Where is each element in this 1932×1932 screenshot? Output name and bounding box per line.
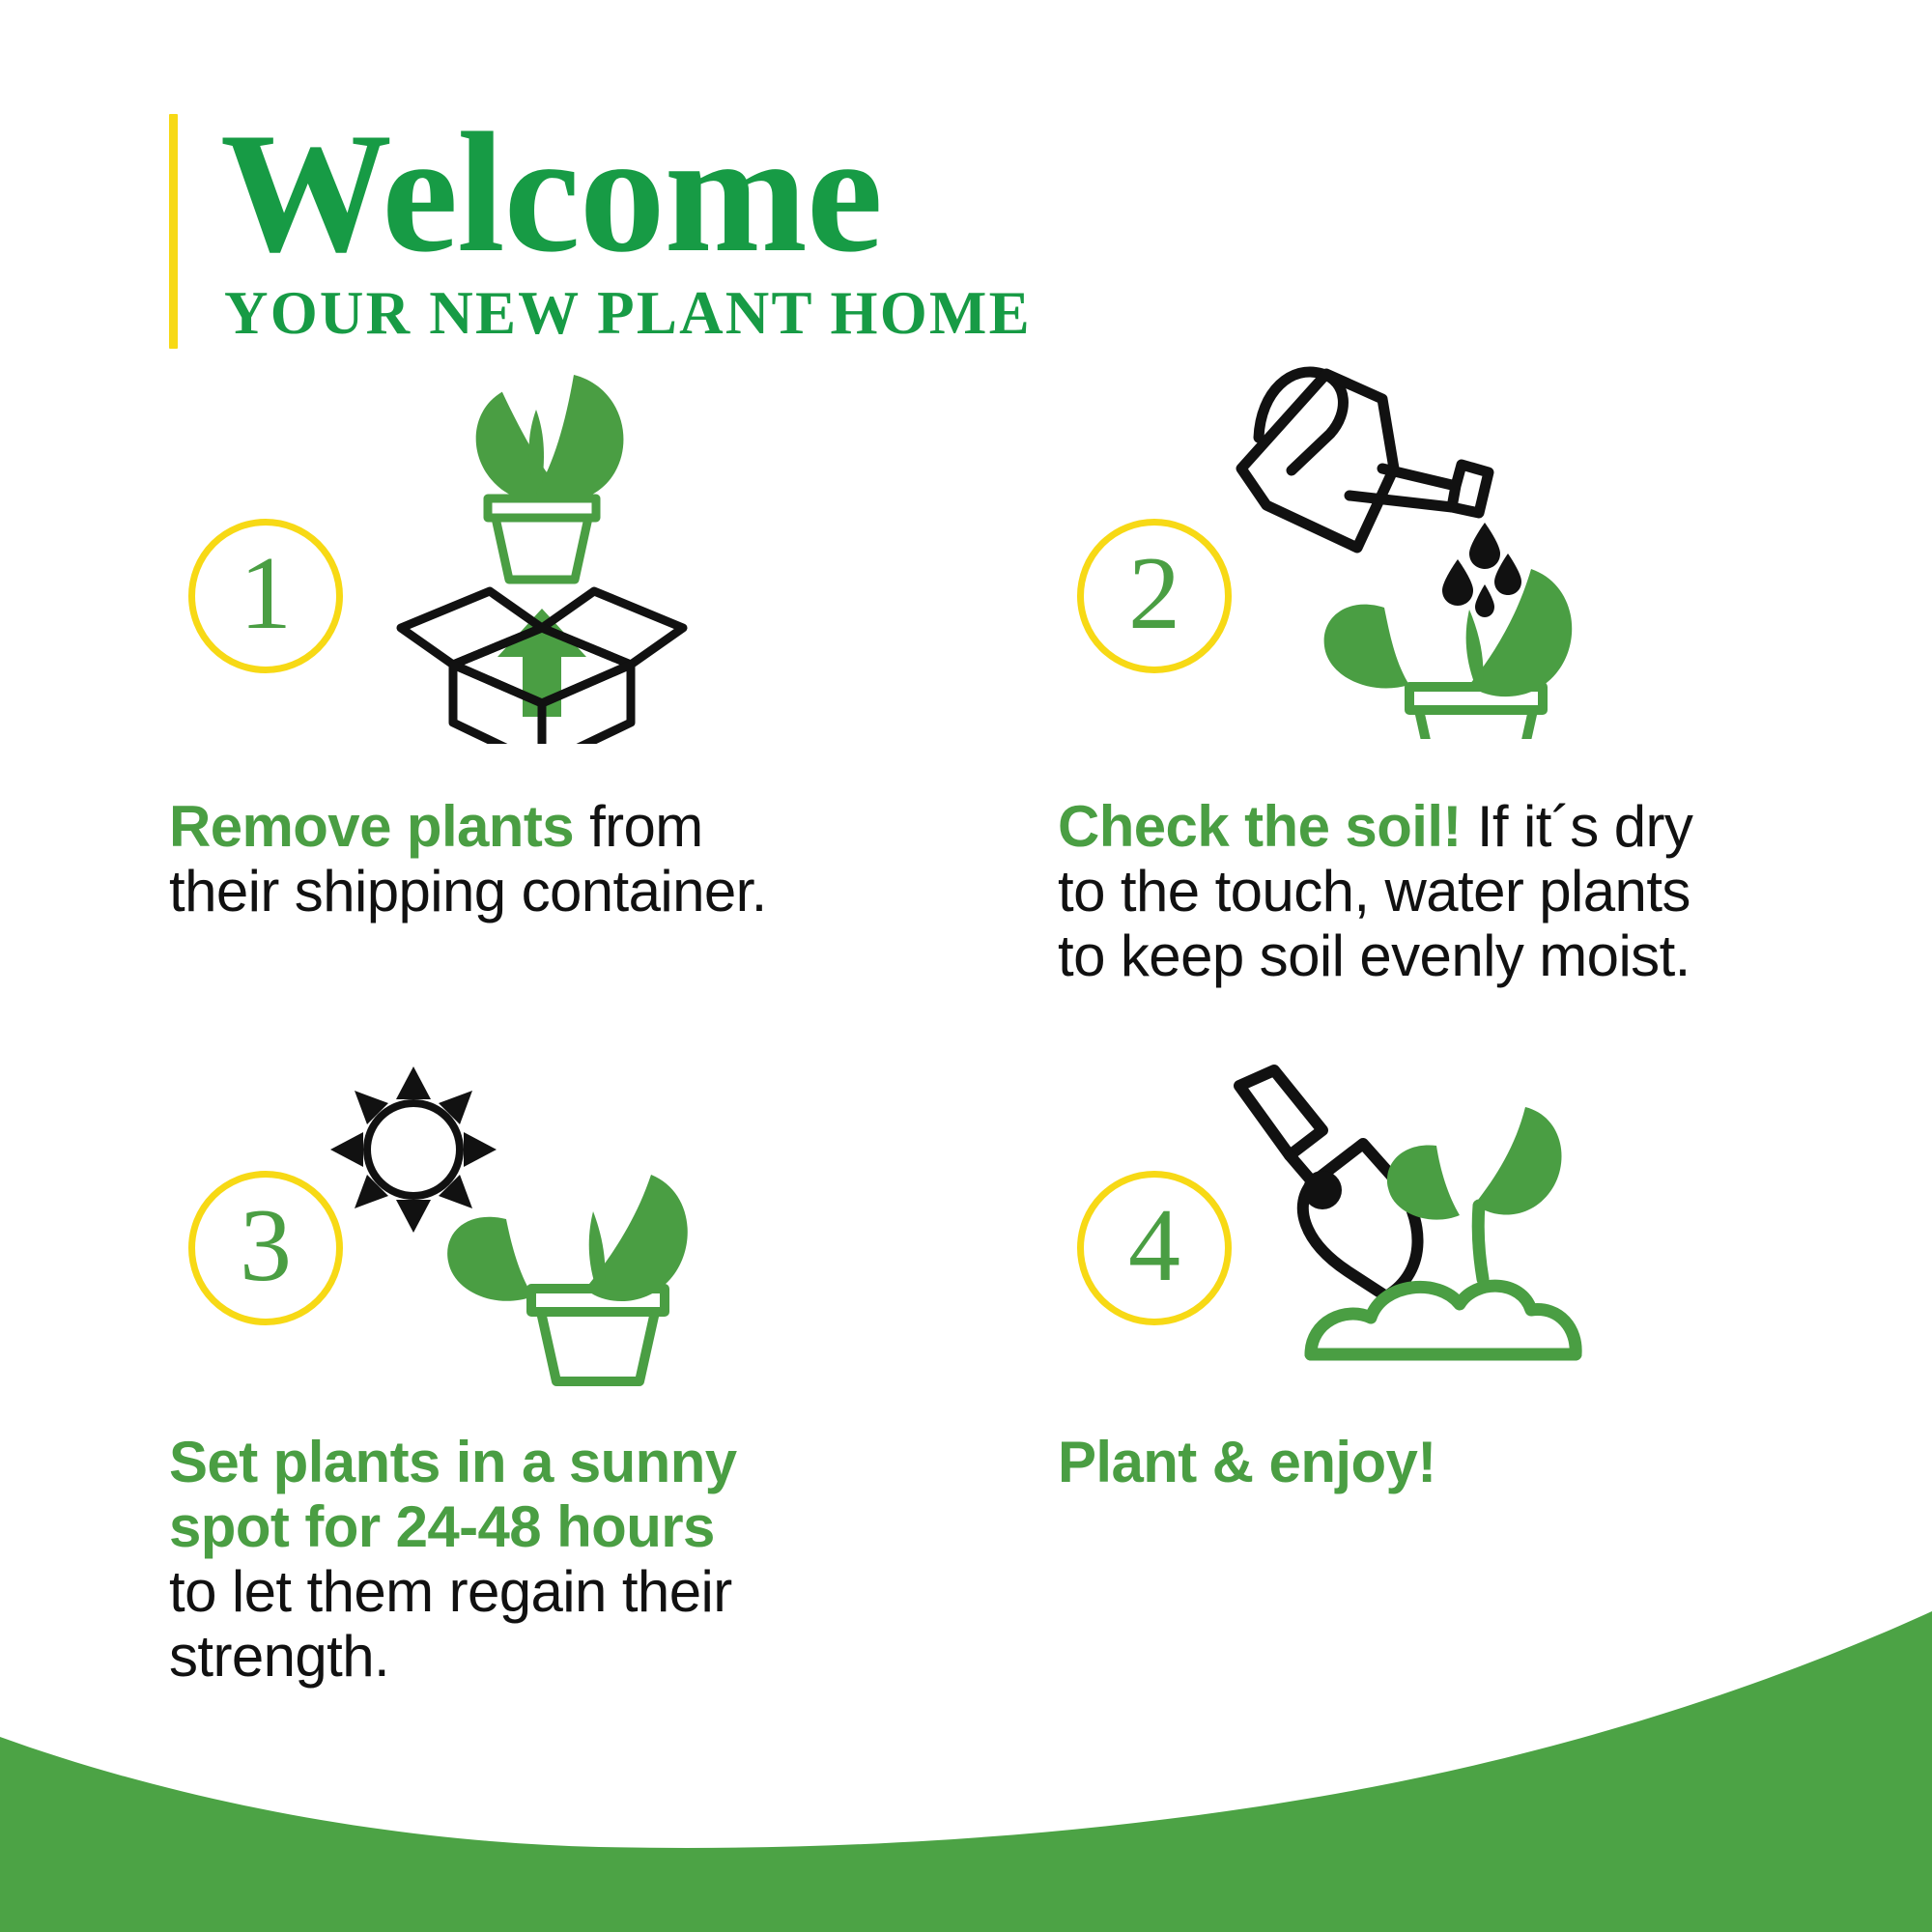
steps-grid: 1 Remove plants from their shipping cont… <box>0 406 1932 1689</box>
step-number-3: 3 <box>240 1194 292 1298</box>
step-number-1: 1 <box>240 542 292 646</box>
plant-in-open-box-icon <box>343 338 729 744</box>
yellow-accent-bar <box>169 114 178 349</box>
steps-row-bottom: 3 Set plants in a sunny spot for 24-48 h… <box>0 1074 1932 1690</box>
steps-row-top: 1 Remove plants from their shipping cont… <box>0 406 1932 989</box>
sun-and-potted-plant-icon <box>309 1053 696 1391</box>
title-block: Welcome YOUR NEW PLANT HOME <box>220 114 1032 349</box>
header: Welcome YOUR NEW PLANT HOME <box>169 114 1032 349</box>
bottom-green-wave <box>0 1604 1932 1932</box>
step-1-headline: Remove plants <box>169 794 574 859</box>
step-number-badge-3: 3 <box>188 1171 343 1325</box>
trowel-and-seedling-in-soil-icon <box>1193 1047 1599 1385</box>
step-2-headline: Check the soil! <box>1058 794 1462 859</box>
step-number-2: 2 <box>1128 542 1180 646</box>
step-number-badge-2: 2 <box>1077 519 1232 673</box>
step-4: 4 Plant & enjoy! <box>1058 1074 1889 1690</box>
sun-icon <box>330 1066 497 1233</box>
step-number-badge-4: 4 <box>1077 1171 1232 1325</box>
step-1: 1 Remove plants from their shipping cont… <box>169 406 1000 989</box>
step-number-badge-1: 1 <box>188 519 343 673</box>
step-1-text: Remove plants from their shipping contai… <box>169 794 787 923</box>
page-title: Welcome <box>220 114 1032 272</box>
step-4-headline: Plant & enjoy! <box>1058 1430 1436 1494</box>
step-3-headline: Set plants in a sunny spot for 24-48 hou… <box>169 1430 737 1559</box>
step-number-4: 4 <box>1128 1194 1180 1298</box>
watering-can-watering-plant-icon <box>1203 324 1647 739</box>
step-2-text: Check the soil! If it´s dry to the touch… <box>1058 794 1695 989</box>
step-2: 2 Check the soil! If it´s dry to the tou… <box>1058 406 1889 989</box>
step-3: 3 Set plants in a sunny spot for 24-48 h… <box>169 1074 1000 1690</box>
step-4-text: Plant & enjoy! <box>1058 1430 1676 1494</box>
plant-care-infographic: Welcome YOUR NEW PLANT HOME <box>0 0 1932 1932</box>
